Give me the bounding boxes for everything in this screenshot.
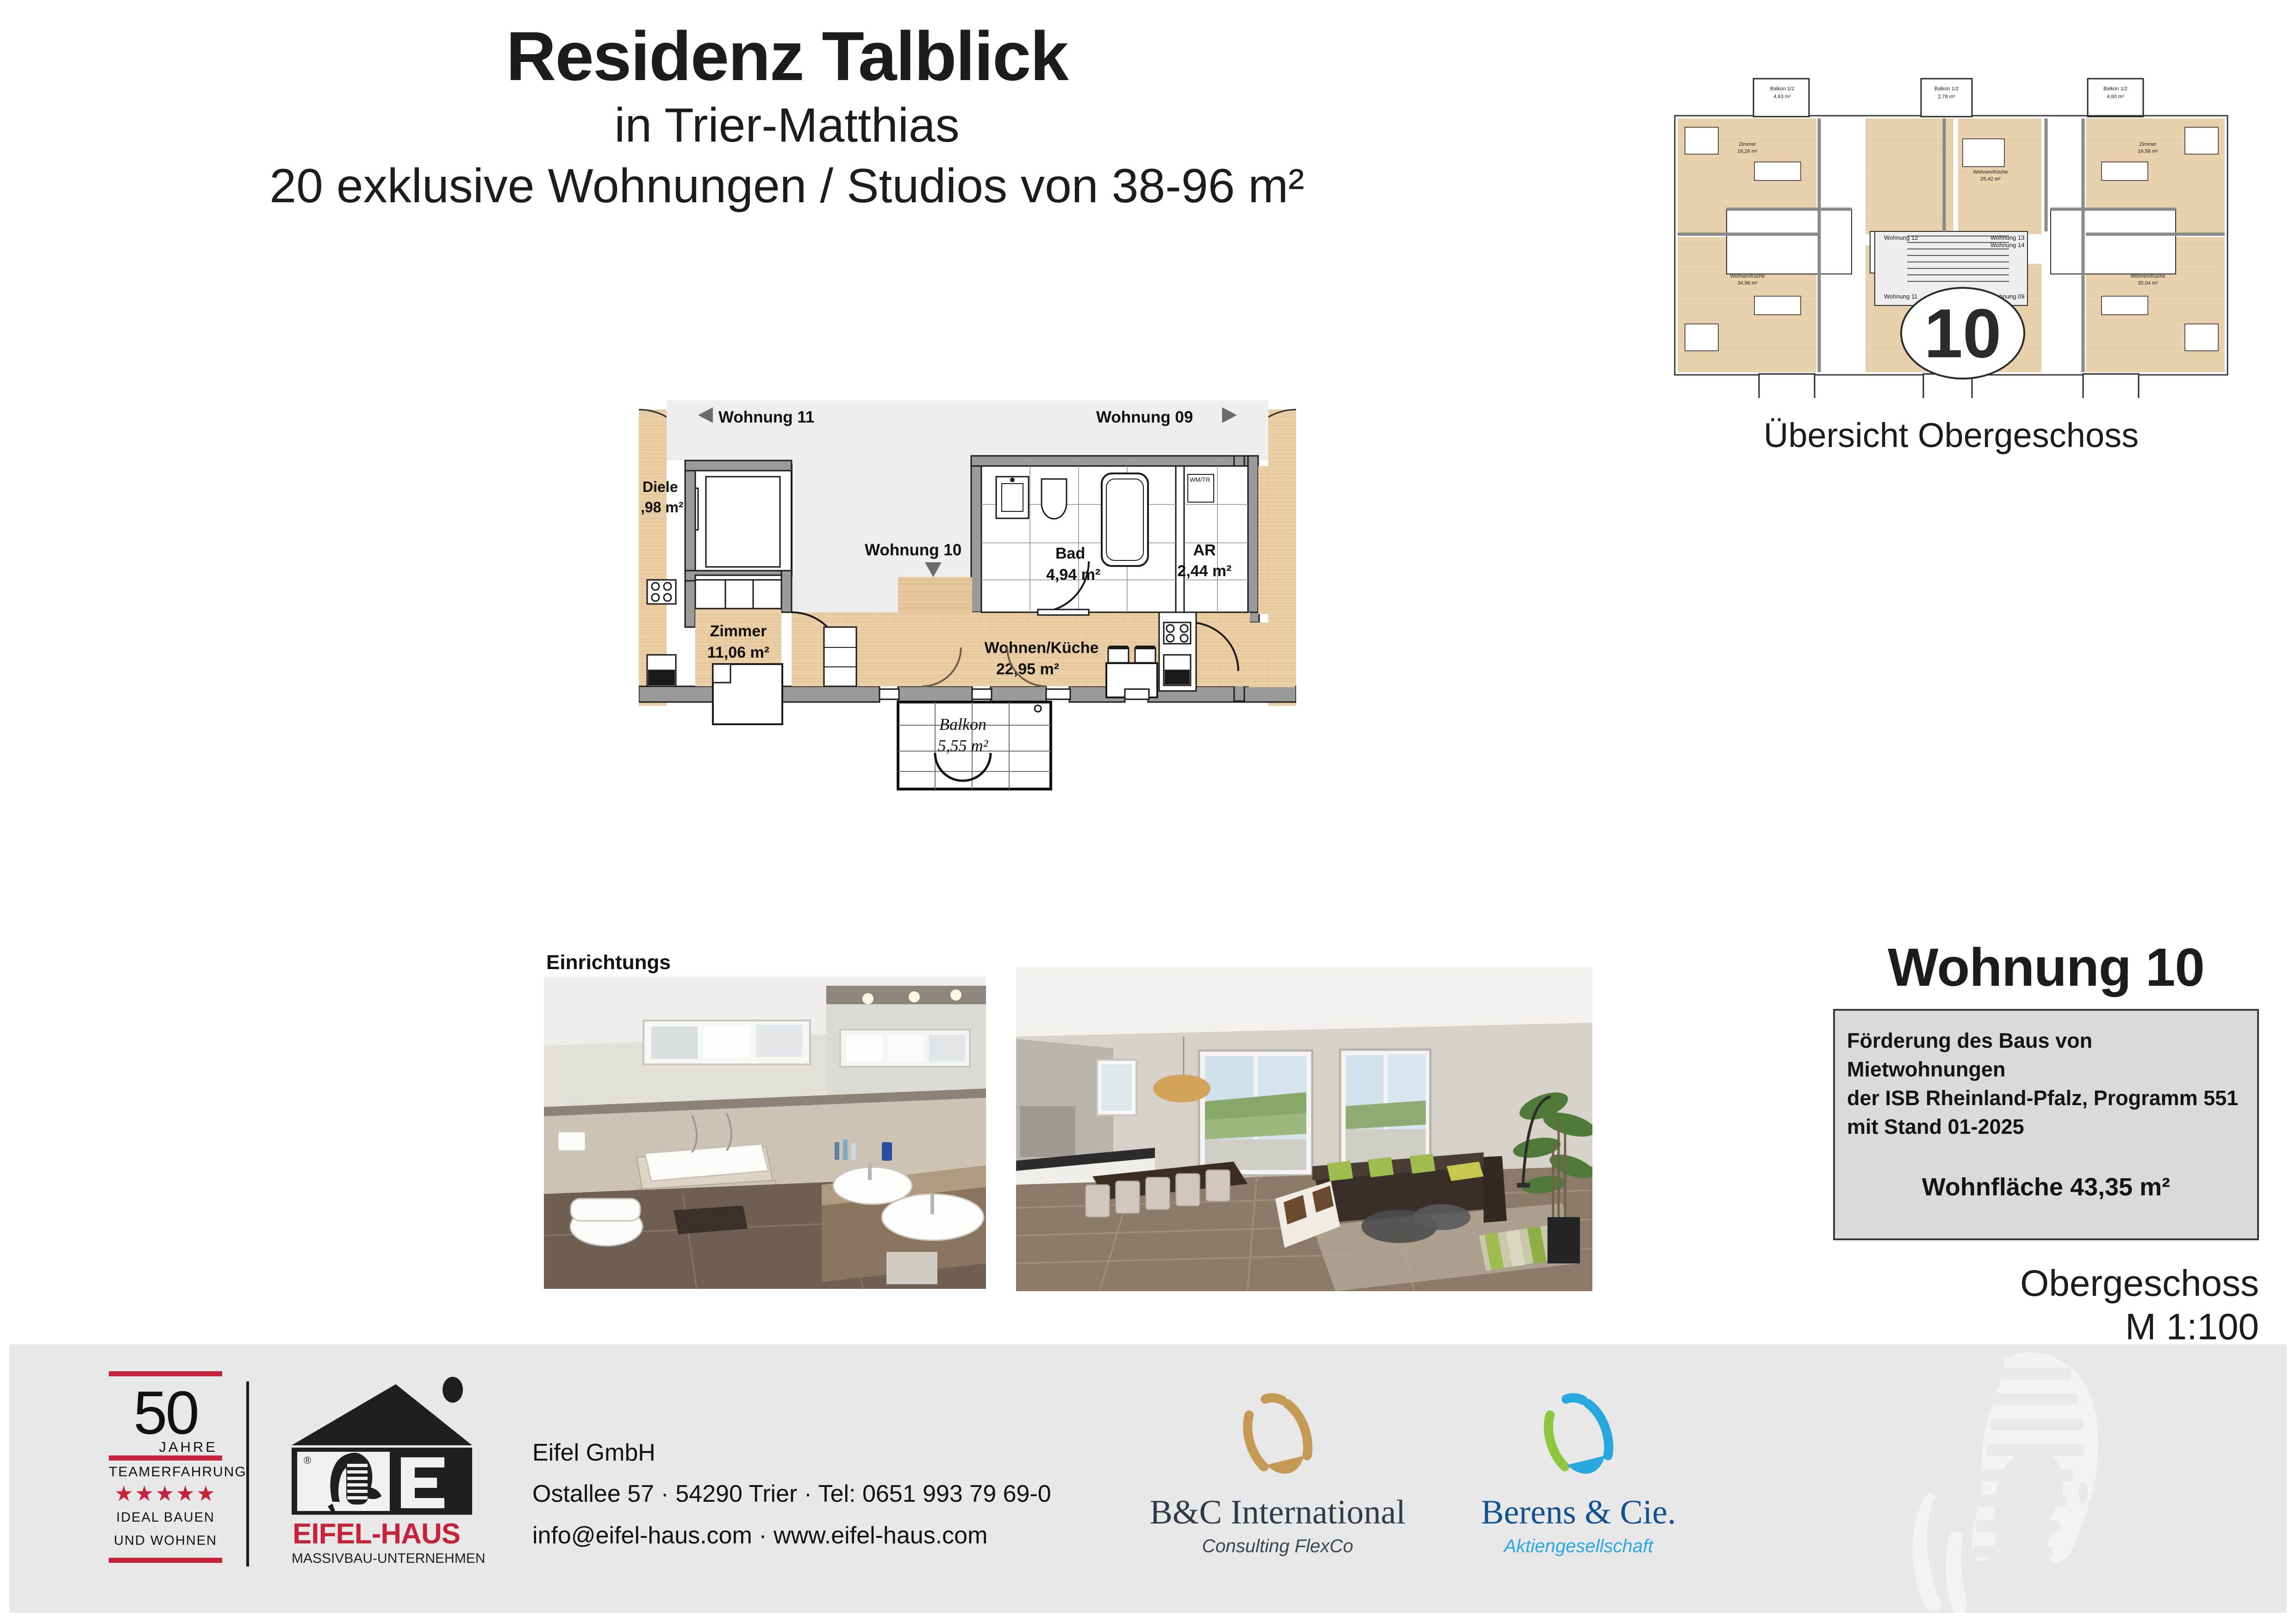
page-footer: 50 JAHRE TEAMERFAHRUNG ★★★★★ IDEAL BAUEN… (9, 1344, 2287, 1613)
chamois-watermark-icon (1865, 1344, 2236, 1613)
funding-info-box: Förderung des Baus von Mietwohnungen der… (1833, 1009, 2259, 1240)
svg-text:Wohnen/Küche: Wohnen/Küche (1973, 169, 2008, 175)
flyer-page: Residenz Talblick in Trier-Matthias 20 e… (0, 0, 2296, 1623)
anniversary-experience-label: TEAMERFAHRUNG (109, 1464, 222, 1480)
room-label-balkon: Balkon (939, 715, 986, 734)
anniversary-number: 50 (109, 1384, 222, 1442)
partner-logo-berens-cie[interactable]: Berens & Cie. Aktiengesellschaft (1435, 1391, 1722, 1557)
svg-text:Wohnung 12: Wohnung 12 (1884, 234, 1918, 241)
funding-line-1: Förderung des Baus von Mietwohnungen (1847, 1026, 2245, 1084)
svg-text:Wohnung 11: Wohnung 11 (1884, 293, 1918, 300)
overview-caption: Übersicht Obergeschoss (1666, 416, 2236, 455)
room-label-wohnen-kueche: Wohnen/Küche (985, 639, 1099, 657)
scale-label: M 1:100 (1833, 1305, 2259, 1349)
page-subtitle-summary: 20 exklusive Wohnungen / Studios von 38-… (0, 157, 1574, 216)
registered-mark: ® (304, 1455, 311, 1466)
svg-text:25,42 m²: 25,42 m² (1980, 176, 2001, 182)
badge-rule-bottom (109, 1558, 222, 1563)
svg-text:Zimmer: Zimmer (2139, 142, 2157, 147)
svg-text:4,63 m²: 4,63 m² (1773, 94, 1791, 99)
photos-caption: Einrichtungs (546, 951, 671, 974)
anniversary-stars-icon: ★★★★★ (109, 1483, 222, 1504)
overview-section: Zimmer16,26 m² Wohnen/Küche34,96 m² Wohn… (1666, 46, 2236, 455)
this-unit-label: Wohnung 10 (865, 541, 961, 559)
svg-text:Balkon 1/2: Balkon 1/2 (1934, 86, 1959, 92)
company-web[interactable]: info@eifel-haus.com · www.eifel-haus.com (532, 1515, 1051, 1556)
overview-apartment-badge: 10 (1900, 287, 2025, 379)
partner-tagline-2: Aktiengesellschaft (1435, 1536, 1722, 1557)
svg-text:Wohnung 14: Wohnung 14 (1990, 242, 2025, 249)
appliance-label-wm-tr: WM/TR (1190, 476, 1210, 483)
living-room-photo-image (1016, 967, 1592, 1291)
eifel-haus-logo[interactable]: ® (278, 1376, 495, 1570)
svg-text:16,26 m²: 16,26 m² (1737, 149, 1758, 154)
floor-level-label: Obergeschoss (1833, 1262, 2259, 1305)
apartment-info-panel: Wohnung 10 Förderung des Baus von Mietwo… (1833, 939, 2259, 1349)
badge-rule-mid (109, 1455, 222, 1461)
svg-text:16,58 m²: 16,58 m² (2138, 149, 2158, 154)
partner-name-1: B&C International (1134, 1495, 1421, 1530)
anniversary-slogan-1: IDEAL BAUEN (109, 1508, 222, 1527)
partner-name-2: Berens & Cie. (1435, 1495, 1722, 1530)
living-room-photo[interactable] (1016, 967, 1592, 1291)
svg-text:Diele: Diele (643, 479, 678, 495)
svg-text:Wohnen/Küche: Wohnen/Küche (2130, 274, 2165, 279)
living-area-value: Wohnfläche 43,35 m² (1847, 1173, 2245, 1201)
company-contact: Eifel GmbH Ostallee 57 · 54290 Trier · T… (532, 1432, 1051, 1556)
anniversary-badge: 50 JAHRE TEAMERFAHRUNG ★★★★★ IDEAL BAUEN… (109, 1371, 222, 1563)
neighbor-left-label: Wohnung 11 (718, 408, 814, 426)
floorplan-drawing: Wohnung 11 Wohnung 09 Diele ,98 m² (639, 396, 1296, 905)
room-label-bad: Bad (1055, 545, 1085, 562)
svg-text:35,04 m²: 35,04 m² (2138, 280, 2158, 286)
eifel-haus-logo-mark: ® (278, 1376, 495, 1570)
bathroom-photo-image (544, 976, 986, 1289)
svg-text:34,96 m²: 34,96 m² (1737, 280, 1758, 286)
bc-ring-icon (1134, 1391, 1421, 1483)
footer-divider (246, 1381, 249, 1567)
badge-rule-top (109, 1371, 222, 1376)
neighbor-right-label: Wohnung 09 (1096, 408, 1193, 426)
bathroom-photo[interactable] (544, 976, 986, 1289)
room-area-balkon: 5,55 m² (938, 736, 989, 755)
company-address: Ostallee 57 · 54290 Trier · Tel: 0651 99… (532, 1474, 1051, 1515)
brand-tagline: MASSIVBAU-UNTERNEHMEN (292, 1551, 485, 1566)
room-label-zimmer: Zimmer (710, 622, 767, 640)
anniversary-slogan-2: UND WOHNEN (109, 1531, 222, 1550)
svg-text:,98 m²: ,98 m² (641, 499, 683, 516)
partner-logo-bc-international[interactable]: B&C International Consulting FlexCo (1134, 1391, 1421, 1557)
page-subtitle-location: in Trier-Matthias (0, 96, 1574, 155)
overview-floorplan-thumbnail[interactable]: Zimmer16,26 m² Wohnen/Küche34,96 m² Wohn… (1666, 46, 2236, 398)
room-area-wohnen-kueche: 22,95 m² (996, 660, 1059, 678)
room-area-ar: 2,44 m² (1177, 562, 1231, 580)
room-label-ar: AR (1193, 541, 1216, 559)
svg-text:Wohnung 13: Wohnung 13 (1990, 234, 2025, 241)
anniversary-years-label: JAHRE (109, 1439, 222, 1455)
room-area-bad: 4,94 m² (1046, 566, 1100, 584)
svg-text:Wohnen/Küche: Wohnen/Küche (1730, 274, 1765, 279)
apartment-title: Wohnung 10 (1833, 939, 2259, 996)
svg-text:Zimmer: Zimmer (1739, 142, 1756, 147)
company-name: Eifel GmbH (532, 1432, 1051, 1474)
partner-tagline-1: Consulting FlexCo (1134, 1536, 1421, 1557)
brand-name: EIFEL-HAUS (293, 1518, 460, 1550)
funding-line-3: mit Stand 01-2025 (1847, 1113, 2245, 1141)
svg-text:Balkon 1/2: Balkon 1/2 (1770, 86, 1794, 92)
page-header: Residenz Talblick in Trier-Matthias 20 e… (0, 19, 1574, 216)
funding-line-2: der ISB Rheinland-Pfalz, Programm 551 (1847, 1084, 2245, 1113)
main-floorplan[interactable]: Wohnung 11 Wohnung 09 Diele ,98 m² (639, 396, 1296, 905)
svg-text:2,78 m²: 2,78 m² (1938, 94, 1955, 99)
page-title: Residenz Talblick (0, 19, 1574, 93)
berens-ring-icon (1435, 1391, 1722, 1483)
svg-text:4,60 m²: 4,60 m² (2107, 94, 2124, 99)
room-area-zimmer: 11,06 m² (707, 644, 769, 661)
svg-text:Balkon 1/2: Balkon 1/2 (2103, 86, 2128, 92)
